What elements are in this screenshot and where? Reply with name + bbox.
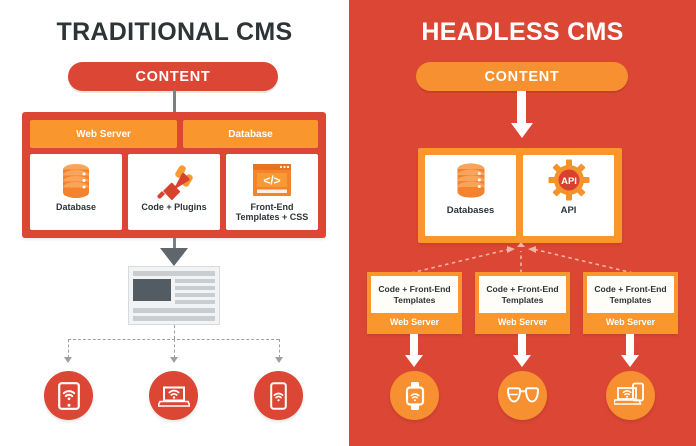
page-title-headless: HEADLESS CMS [349, 18, 696, 47]
arrow-srv3-device [621, 355, 639, 367]
fe-line1: Front-End [251, 202, 294, 212]
headless-core-container: Databases [418, 148, 622, 243]
server-box-1-templates: Code + Front-End Templates [371, 276, 458, 313]
page-line [175, 300, 215, 304]
srv3-line2: Templates [610, 295, 652, 306]
database-cylinder-icon [451, 155, 491, 205]
page-line [175, 286, 215, 290]
phone-wifi-icon [270, 382, 287, 410]
connector-content-to-api [517, 91, 526, 124]
api-fanin-connectors [349, 243, 696, 275]
plug-icon [154, 158, 194, 202]
page-line [133, 316, 215, 321]
server-box-1-label: Web Server [371, 313, 458, 330]
headless-cms-panel: HEADLESS CMS CONTENT [349, 0, 696, 446]
page-line [175, 293, 215, 297]
card-databases: Databases [425, 155, 516, 236]
bus-drop-mid [174, 339, 175, 358]
traditional-stack-container: Web Server Database [22, 112, 326, 238]
traditional-cms-panel: TRADITIONAL CMS CONTENT Web Server Datab… [0, 0, 349, 446]
api-gear-icon: API [548, 155, 590, 205]
device-smart-glasses[interactable] [498, 371, 547, 420]
device-tablet[interactable] [44, 371, 93, 420]
bus-drop-right [279, 339, 280, 358]
card-code-plugins: Code + Plugins [128, 154, 220, 230]
arrow-srv2-device [513, 355, 531, 367]
svg-text:</>: </> [263, 174, 280, 188]
tablet-wifi-icon [58, 382, 80, 410]
server-row: Web Server Database [30, 120, 318, 148]
server-box-3: Code + Front-End Templates Web Server [583, 272, 678, 334]
browser-page-mockup [128, 266, 220, 325]
api-badge-text: API [561, 176, 577, 187]
content-pill-headless: CONTENT [416, 62, 628, 91]
server-box-3-label: Web Server [587, 313, 674, 330]
page-title-traditional: TRADITIONAL CMS [0, 18, 349, 47]
arrow-srv1-device [405, 355, 423, 367]
srv1-line1: Code + Front-End [378, 284, 450, 295]
server-box-1: Code + Front-End Templates Web Server [367, 272, 462, 334]
connector-srv3-device [626, 334, 634, 356]
arrow-to-laptop [170, 357, 178, 363]
card-frontend-templates-label: Front-End Templates + CSS [234, 202, 311, 223]
card-frontend-templates: </> Front-End Templates + CSS [226, 154, 318, 230]
card-api-label: API [561, 205, 577, 216]
device-laptop[interactable] [149, 371, 198, 420]
card-databases-label: Databases [447, 205, 495, 216]
server-box-2-templates: Code + Front-End Templates [479, 276, 566, 313]
srv1-line2: Templates [394, 295, 436, 306]
bus-drop-left [68, 339, 69, 358]
page-image-block [133, 279, 171, 301]
server-box-2-label: Web Server [479, 313, 566, 330]
srv3-line1: Code + Front-End [594, 284, 666, 295]
page-line [175, 279, 215, 283]
database-cylinder-icon [57, 158, 95, 202]
arrow-to-tablet [64, 357, 72, 363]
device-laptop-phone[interactable] [606, 371, 655, 420]
infographic-canvas: TRADITIONAL CMS CONTENT Web Server Datab… [0, 0, 696, 446]
arrow-stack-to-page [160, 248, 188, 266]
smartwatch-wifi-icon [403, 381, 427, 411]
content-pill-traditional: CONTENT [68, 62, 278, 91]
card-database: Database [30, 154, 122, 230]
srv2-line1: Code + Front-End [486, 284, 558, 295]
page-text-lines [175, 279, 215, 304]
card-code-plugins-label: Code + Plugins [139, 202, 208, 212]
component-card-row: Database Code + Plugins [30, 154, 318, 230]
code-window-icon: </> [249, 158, 295, 202]
device-smartwatch[interactable] [390, 371, 439, 420]
card-api: API API [523, 155, 614, 236]
server-box-3-templates: Code + Front-End Templates [587, 276, 674, 313]
connector-srv2-device [518, 334, 526, 356]
smart-glasses-icon [506, 386, 540, 406]
web-server-chip: Web Server [30, 120, 177, 148]
srv2-line2: Templates [502, 295, 544, 306]
arrow-content-to-api [511, 123, 533, 138]
server-box-2: Code + Front-End Templates Web Server [475, 272, 570, 334]
card-database-label: Database [54, 202, 98, 212]
database-chip: Database [183, 120, 318, 148]
arrow-to-phone [275, 357, 283, 363]
page-hero-row [133, 279, 215, 304]
device-phone[interactable] [254, 371, 303, 420]
page-title-bar [133, 271, 215, 276]
fe-line2: Templates + CSS [236, 212, 309, 222]
core-card-row: Databases [425, 155, 615, 236]
laptop-phone-icon [614, 382, 647, 410]
connector-srv1-device [410, 334, 418, 356]
connector-content-to-stack [173, 90, 176, 113]
bus-drop-center [174, 325, 175, 339]
page-line [133, 308, 215, 313]
laptop-wifi-icon [158, 383, 190, 409]
